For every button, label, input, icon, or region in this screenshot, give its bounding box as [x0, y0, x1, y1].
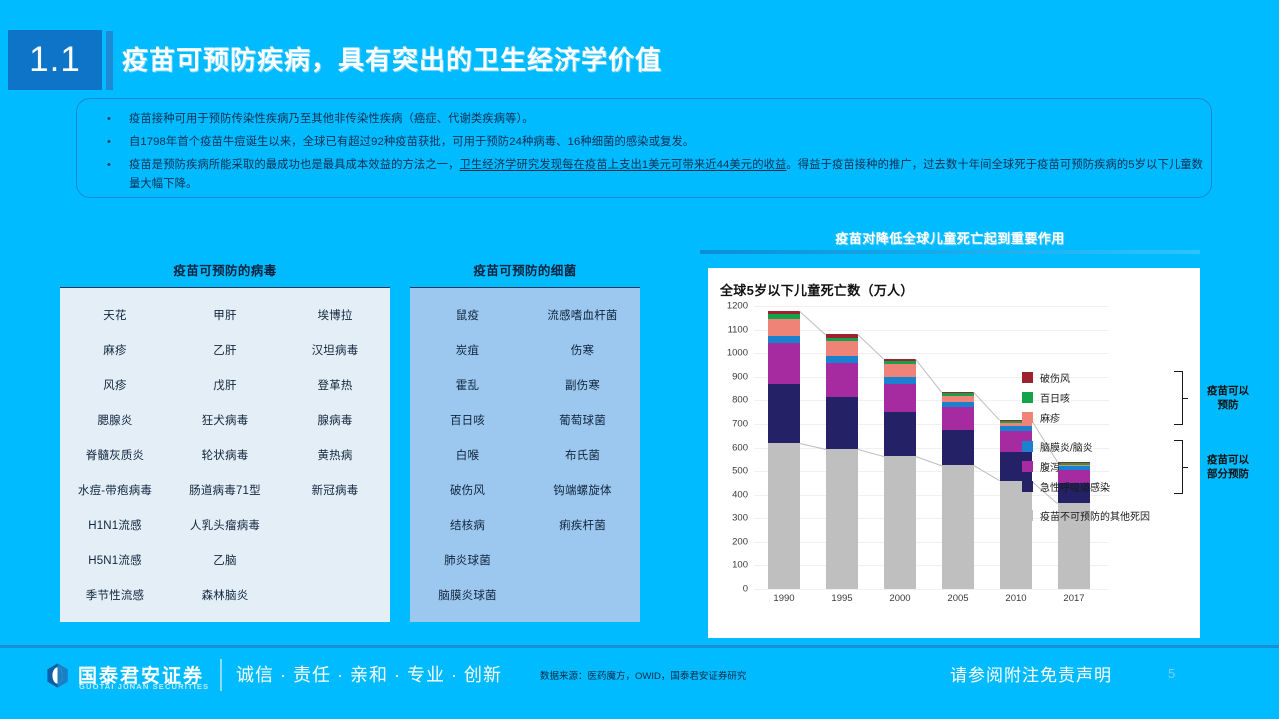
chart-bar-segment — [768, 443, 800, 589]
y-axis-tick-label: 200 — [732, 536, 748, 547]
total-trend-connector — [857, 334, 884, 359]
y-axis-tick-label: 100 — [732, 560, 748, 571]
table-cell: 霍乱 — [410, 377, 525, 393]
other-causes-trend-connector — [973, 465, 999, 481]
vaccine-preventable-label-line2: 预防 — [1192, 398, 1264, 412]
table-cell: 登革热 — [280, 377, 390, 393]
bullet-marker: • — [103, 156, 129, 194]
y-axis-tick-label: 500 — [732, 466, 748, 477]
table-cell: 布氏菌 — [525, 447, 640, 463]
bullet-text-plain: 疫苗是预防疾病所能采取的最成功也是最具成本效益的方法之一， — [129, 159, 460, 171]
table-row: 百日咳葡萄球菌 — [410, 402, 640, 437]
table-cell: 黄热病 — [280, 447, 390, 463]
x-axis-tick-label: 2005 — [932, 593, 984, 604]
table-row: 季节性流感森林脑炎 — [60, 577, 390, 612]
total-trend-connector — [973, 392, 1000, 421]
table-cell: 钩端螺旋体 — [525, 482, 640, 498]
table-cell: 鼠疫 — [410, 307, 525, 323]
bullet-marker: • — [103, 133, 129, 152]
chart-bar-segment — [768, 336, 800, 343]
virus-table: 疫苗可预防的病毒 天花甲肝埃博拉麻疹乙肝汉坦病毒风疹戊肝登革热腮腺炎狂犬病毒腺病… — [60, 260, 390, 622]
x-axis-tick-label: 1990 — [758, 593, 810, 604]
bullet-marker: • — [103, 110, 129, 129]
legend-label: 急性呼吸道感染 — [1040, 479, 1110, 494]
table-cell: 葡萄球菌 — [525, 412, 640, 428]
bullet-text: 疫苗接种可用于预防传染性疾病乃至其他非传染性疾病（癌症、代谢类疾病等）。 — [129, 110, 534, 129]
total-trend-connector — [799, 311, 826, 335]
table-cell: 狂犬病毒 — [170, 412, 280, 428]
table-cell: 戊肝 — [170, 377, 280, 393]
y-axis-tick-label: 1000 — [727, 348, 748, 359]
other-causes-trend-connector — [916, 456, 942, 466]
table-row: 白喉布氏菌 — [410, 437, 640, 472]
table-row: 鼠疫流感嗜血杆菌 — [410, 297, 640, 332]
x-axis-tick-label: 2010 — [990, 593, 1042, 604]
table-cell: 炭疽 — [410, 342, 525, 358]
y-axis-tick-label: 300 — [732, 513, 748, 524]
page-title: 疫苗可预防疾病，具有突出的卫生经济学价值 — [122, 40, 662, 77]
table-row: 霍乱副伤寒 — [410, 367, 640, 402]
x-axis-tick-label: 1995 — [816, 593, 868, 604]
brand-slogan: 诚信 · 责任 · 亲和 · 专业 · 创新 — [236, 661, 502, 687]
chart-bar-segment — [826, 397, 858, 449]
partially-preventable-label: 疫苗可以部分预防 — [1192, 453, 1264, 481]
table-cell: 破伤风 — [410, 482, 525, 498]
chart-bar-segment — [768, 384, 800, 443]
bacteria-table-body: 鼠疫流感嗜血杆菌炭疽伤寒霍乱副伤寒百日咳葡萄球菌白喉布氏菌破伤风钩端螺旋体结核病… — [410, 287, 640, 622]
table-row: 风疹戊肝登革热 — [60, 367, 390, 402]
y-axis-tick-label: 400 — [732, 489, 748, 500]
gridline — [754, 353, 1109, 354]
chart-header-rule — [700, 250, 1200, 254]
chart-bar-segment — [826, 341, 858, 355]
table-cell: H1N1流感 — [60, 517, 170, 533]
gridline — [754, 589, 1109, 590]
y-axis-tick-label: 700 — [732, 418, 748, 429]
vaccine-preventable-label-line1: 疫苗可以 — [1192, 384, 1264, 398]
chart-bar — [826, 334, 858, 589]
chart-panel: 全球5岁以下儿童死亡数（万人） 010020030040050060070080… — [708, 268, 1200, 638]
table-cell: 结核病 — [410, 517, 525, 533]
legend-color-swatch — [1022, 392, 1033, 403]
legend-color-swatch — [1022, 510, 1033, 521]
chart-bar-segment — [942, 465, 974, 589]
bullet-text: 疫苗是预防疾病所能采取的最成功也是最具成本效益的方法之一，卫生经济学研究发现每在… — [129, 156, 1211, 194]
chart-bar-segment — [884, 412, 916, 456]
legend-label: 脑膜炎/脑炎 — [1040, 439, 1093, 454]
bullet-callout-box: • 疫苗接种可用于预防传染性疾病乃至其他非传染性疾病（癌症、代谢类疾病等）。 •… — [76, 98, 1212, 198]
table-row: 脊髓灰质炎轮状病毒黄热病 — [60, 437, 390, 472]
table-cell: 脑膜炎球菌 — [410, 587, 525, 603]
partially-preventable-brace — [1174, 440, 1183, 494]
chart-title: 全球5岁以下儿童死亡数（万人） — [720, 280, 914, 299]
table-cell: H5N1流感 — [60, 552, 170, 568]
table-row: 腮腺炎狂犬病毒腺病毒 — [60, 402, 390, 437]
vaccine-preventable-brace — [1174, 371, 1183, 425]
bullet-item: • 疫苗接种可用于预防传染性疾病乃至其他非传染性疾病（癌症、代谢类疾病等）。 — [103, 110, 1211, 129]
footer-rule — [0, 645, 1279, 648]
brand-name-en: GUOTAI JUNAN SECURITIES — [79, 682, 209, 691]
x-axis-tick-label: 2000 — [874, 593, 926, 604]
table-row: H5N1流感乙脑 — [60, 542, 390, 577]
legend-label: 疫苗不可预防的其他死因 — [1040, 508, 1150, 523]
table-cell: 腮腺炎 — [60, 412, 170, 428]
bullet-item: • 自1798年首个疫苗牛痘诞生以来，全球已有超过92种疫苗获批，可用于预防24… — [103, 133, 1211, 152]
bullet-item: • 疫苗是预防疾病所能采取的最成功也是最具成本效益的方法之一，卫生经济学研究发现… — [103, 156, 1211, 194]
gridline — [754, 565, 1109, 566]
table-cell: 轮状病毒 — [170, 447, 280, 463]
chart-bar-segment — [884, 456, 916, 589]
chart-bar-segment — [826, 363, 858, 397]
table-cell: 季节性流感 — [60, 587, 170, 603]
table-cell: 乙脑 — [170, 552, 280, 568]
table-cell: 甲肝 — [170, 307, 280, 323]
vaccine-preventable-label: 疫苗可以预防 — [1192, 384, 1264, 412]
chart-bar-segment — [884, 377, 916, 384]
chart-section-header: 疫苗对降低全球儿童死亡起到重要作用 — [700, 228, 1200, 247]
table-row: 水痘-带疱病毒肠道病毒71型新冠病毒 — [60, 472, 390, 507]
legend-color-swatch — [1022, 412, 1033, 423]
y-axis-tick-label: 800 — [732, 395, 748, 406]
chart-bar-segment — [826, 449, 858, 589]
chart-bar — [942, 392, 974, 589]
table-row: 麻疹乙肝汉坦病毒 — [60, 332, 390, 367]
chart-bar-segment — [826, 356, 858, 363]
bullet-text-underlined: 卫生经济学研究发现每在疫苗上支出1美元可带来近44美元的收益 — [460, 159, 787, 171]
gridline — [754, 330, 1109, 331]
page-number: 5 — [1168, 666, 1175, 681]
legend-gap — [1022, 497, 1237, 506]
table-cell: 乙肝 — [170, 342, 280, 358]
company-logo-icon — [44, 662, 71, 689]
partially-preventable-label-line1: 疫苗可以 — [1192, 453, 1264, 467]
chart-bar — [768, 311, 800, 589]
bacteria-table: 疫苗可预防的细菌 鼠疫流感嗜血杆菌炭疽伤寒霍乱副伤寒百日咳葡萄球菌白喉布氏菌破伤… — [410, 260, 640, 622]
chart-legend: 破伤风百日咳麻疹脑膜炎/脑炎腹泻急性呼吸道感染疫苗不可预防的其他死因疫苗可以预防… — [1022, 368, 1237, 526]
gridline — [754, 542, 1109, 543]
y-axis-tick-label: 1200 — [727, 301, 748, 312]
chart-bar — [884, 359, 916, 589]
table-cell: 腺病毒 — [280, 412, 390, 428]
table-cell: 水痘-带疱病毒 — [60, 482, 170, 498]
source-note: 数据来源：医药魔方，OWID，国泰君安证券研究 — [540, 668, 746, 682]
table-row: 脑膜炎球菌 — [410, 577, 640, 612]
table-cell: 天花 — [60, 307, 170, 323]
bacteria-table-caption: 疫苗可预防的细菌 — [410, 260, 640, 279]
table-cell: 百日咳 — [410, 412, 525, 428]
legend-label: 百日咳 — [1040, 390, 1070, 405]
y-axis-tick-label: 900 — [732, 371, 748, 382]
y-axis-tick-label: 600 — [732, 442, 748, 453]
legend-color-swatch — [1022, 372, 1033, 383]
partially-preventable-label-line2: 部分预防 — [1192, 467, 1264, 481]
legend-color-swatch — [1022, 461, 1033, 472]
table-cell: 麻疹 — [60, 342, 170, 358]
brand-separator — [220, 659, 222, 691]
table-cell: 风疹 — [60, 377, 170, 393]
table-cell: 脊髓灰质炎 — [60, 447, 170, 463]
table-cell: 人乳头瘤病毒 — [170, 517, 280, 533]
legend-gap — [1022, 428, 1237, 437]
table-cell: 肠道病毒71型 — [170, 482, 280, 498]
table-cell: 伤寒 — [525, 342, 640, 358]
chart-bar-segment — [884, 384, 916, 412]
disclaimer-text: 请参阅附注免责声明 — [950, 661, 1112, 686]
table-cell: 副伤寒 — [525, 377, 640, 393]
table-row: 肺炎球菌 — [410, 542, 640, 577]
chart-bar-segment — [942, 407, 974, 429]
y-axis-tick-label: 1100 — [728, 324, 748, 335]
chart-plot-area: 0100200300400500600700800900100011001200… — [754, 306, 1184, 611]
x-axis-tick-label: 2017 — [1048, 593, 1100, 604]
virus-table-caption: 疫苗可预防的病毒 — [60, 260, 390, 279]
table-cell: 汉坦病毒 — [280, 342, 390, 358]
table-cell: 肺炎球菌 — [410, 552, 525, 568]
title-divider — [106, 31, 113, 90]
chart-bar-segment — [942, 430, 974, 465]
other-causes-trend-connector — [800, 443, 826, 450]
table-cell: 森林脑炎 — [170, 587, 280, 603]
bullet-text: 自1798年首个疫苗牛痘诞生以来，全球已有超过92种疫苗获批，可用于预防24种病… — [129, 133, 694, 152]
vaccine-preventable-brace-tip — [1183, 398, 1188, 399]
legend-label: 麻疹 — [1040, 410, 1060, 425]
table-cell: 埃博拉 — [280, 307, 390, 323]
table-row: H1N1流感人乳头瘤病毒 — [60, 507, 390, 542]
partially-preventable-brace-tip — [1183, 467, 1188, 468]
legend-item: 疫苗不可预防的其他死因 — [1022, 506, 1237, 524]
table-cell: 新冠病毒 — [280, 482, 390, 498]
table-cell: 痢疾杆菌 — [525, 517, 640, 533]
gridline — [754, 306, 1109, 307]
slide-number-badge: 1.1 — [8, 30, 102, 90]
table-row: 天花甲肝埃博拉 — [60, 297, 390, 332]
virus-table-body: 天花甲肝埃博拉麻疹乙肝汉坦病毒风疹戊肝登革热腮腺炎狂犬病毒腺病毒脊髓灰质炎轮状病… — [60, 287, 390, 622]
legend-label: 腹泻 — [1040, 459, 1060, 474]
table-row: 破伤风钩端螺旋体 — [410, 472, 640, 507]
table-row: 炭疽伤寒 — [410, 332, 640, 367]
legend-color-swatch — [1022, 441, 1033, 452]
other-causes-trend-connector — [858, 449, 884, 457]
table-cell: 白喉 — [410, 447, 525, 463]
table-cell: 流感嗜血杆菌 — [525, 307, 640, 323]
chart-bar-segment — [768, 319, 800, 336]
chart-bar-segment — [768, 343, 800, 384]
legend-color-swatch — [1022, 481, 1033, 492]
y-axis-tick-label: 0 — [743, 584, 748, 595]
chart-bar-segment — [884, 364, 916, 377]
legend-label: 破伤风 — [1040, 370, 1070, 385]
table-row: 结核病痢疾杆菌 — [410, 507, 640, 542]
